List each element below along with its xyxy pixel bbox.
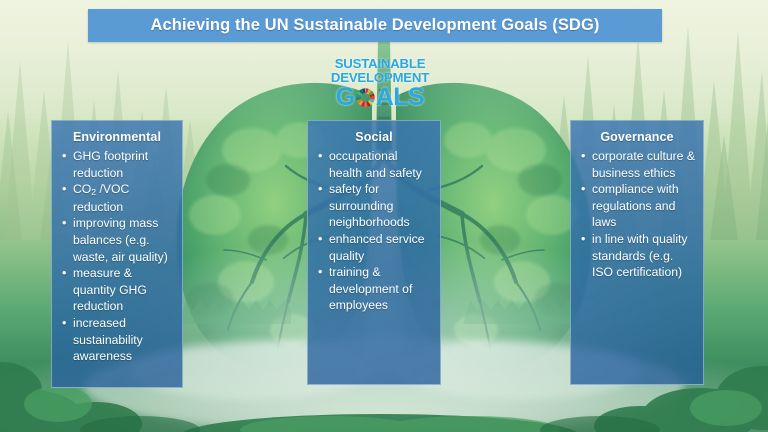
- sdg-logo: SUSTAINABLE DEVELOPMENT G: [331, 57, 429, 107]
- sdg-logo-goals-row: G: [336, 85, 424, 110]
- co2-subscript: 2: [91, 187, 96, 197]
- sdg-logo-g: G: [336, 85, 355, 110]
- list-item: measure & quantity GHG reduction: [60, 265, 174, 315]
- list-item: enhanced service quality: [316, 231, 432, 264]
- panel-title-governance: Governance: [579, 130, 695, 144]
- list-item: GHG footprint reduction: [60, 148, 174, 181]
- sdg-logo-line1: SUSTAINABLE: [335, 57, 426, 70]
- sdg-logo-als: ALS: [376, 85, 425, 110]
- slide-canvas: Achieving the UN Sustainable Development…: [0, 0, 768, 432]
- list-item: compliance with regulations and laws: [579, 181, 695, 231]
- panel-social: Social occupational health and safety sa…: [307, 120, 441, 385]
- list-item: occupational health and safety: [316, 148, 432, 181]
- panel-title-social: Social: [316, 130, 432, 144]
- page-title-bar: Achieving the UN Sustainable Development…: [88, 9, 662, 42]
- list-item: CO2 /VOC reduction: [60, 181, 174, 215]
- sdg-color-wheel-icon: [355, 87, 376, 108]
- panel-list-environmental: GHG footprint reduction CO2 /VOC reducti…: [60, 148, 174, 365]
- list-item: corporate culture & business ethics: [579, 148, 695, 181]
- panel-environmental: Environmental GHG footprint reduction CO…: [51, 120, 183, 388]
- panel-governance: Governance corporate culture & business …: [570, 120, 704, 385]
- co2-label: CO: [73, 182, 91, 196]
- panel-list-social: occupational health and safety safety fo…: [316, 148, 432, 314]
- list-item: training & development of employees: [316, 264, 432, 314]
- list-item: in line with quality standards (e.g. ISO…: [579, 231, 695, 281]
- list-item: improving mass balances (e.g. waste, air…: [60, 215, 174, 265]
- list-item: safety for surrounding neighborhoods: [316, 181, 432, 231]
- page-title: Achieving the UN Sustainable Development…: [151, 16, 600, 35]
- panel-title-environmental: Environmental: [60, 130, 174, 144]
- panel-list-governance: corporate culture & business ethics comp…: [579, 148, 695, 281]
- list-item: increased sustainability awareness: [60, 315, 174, 365]
